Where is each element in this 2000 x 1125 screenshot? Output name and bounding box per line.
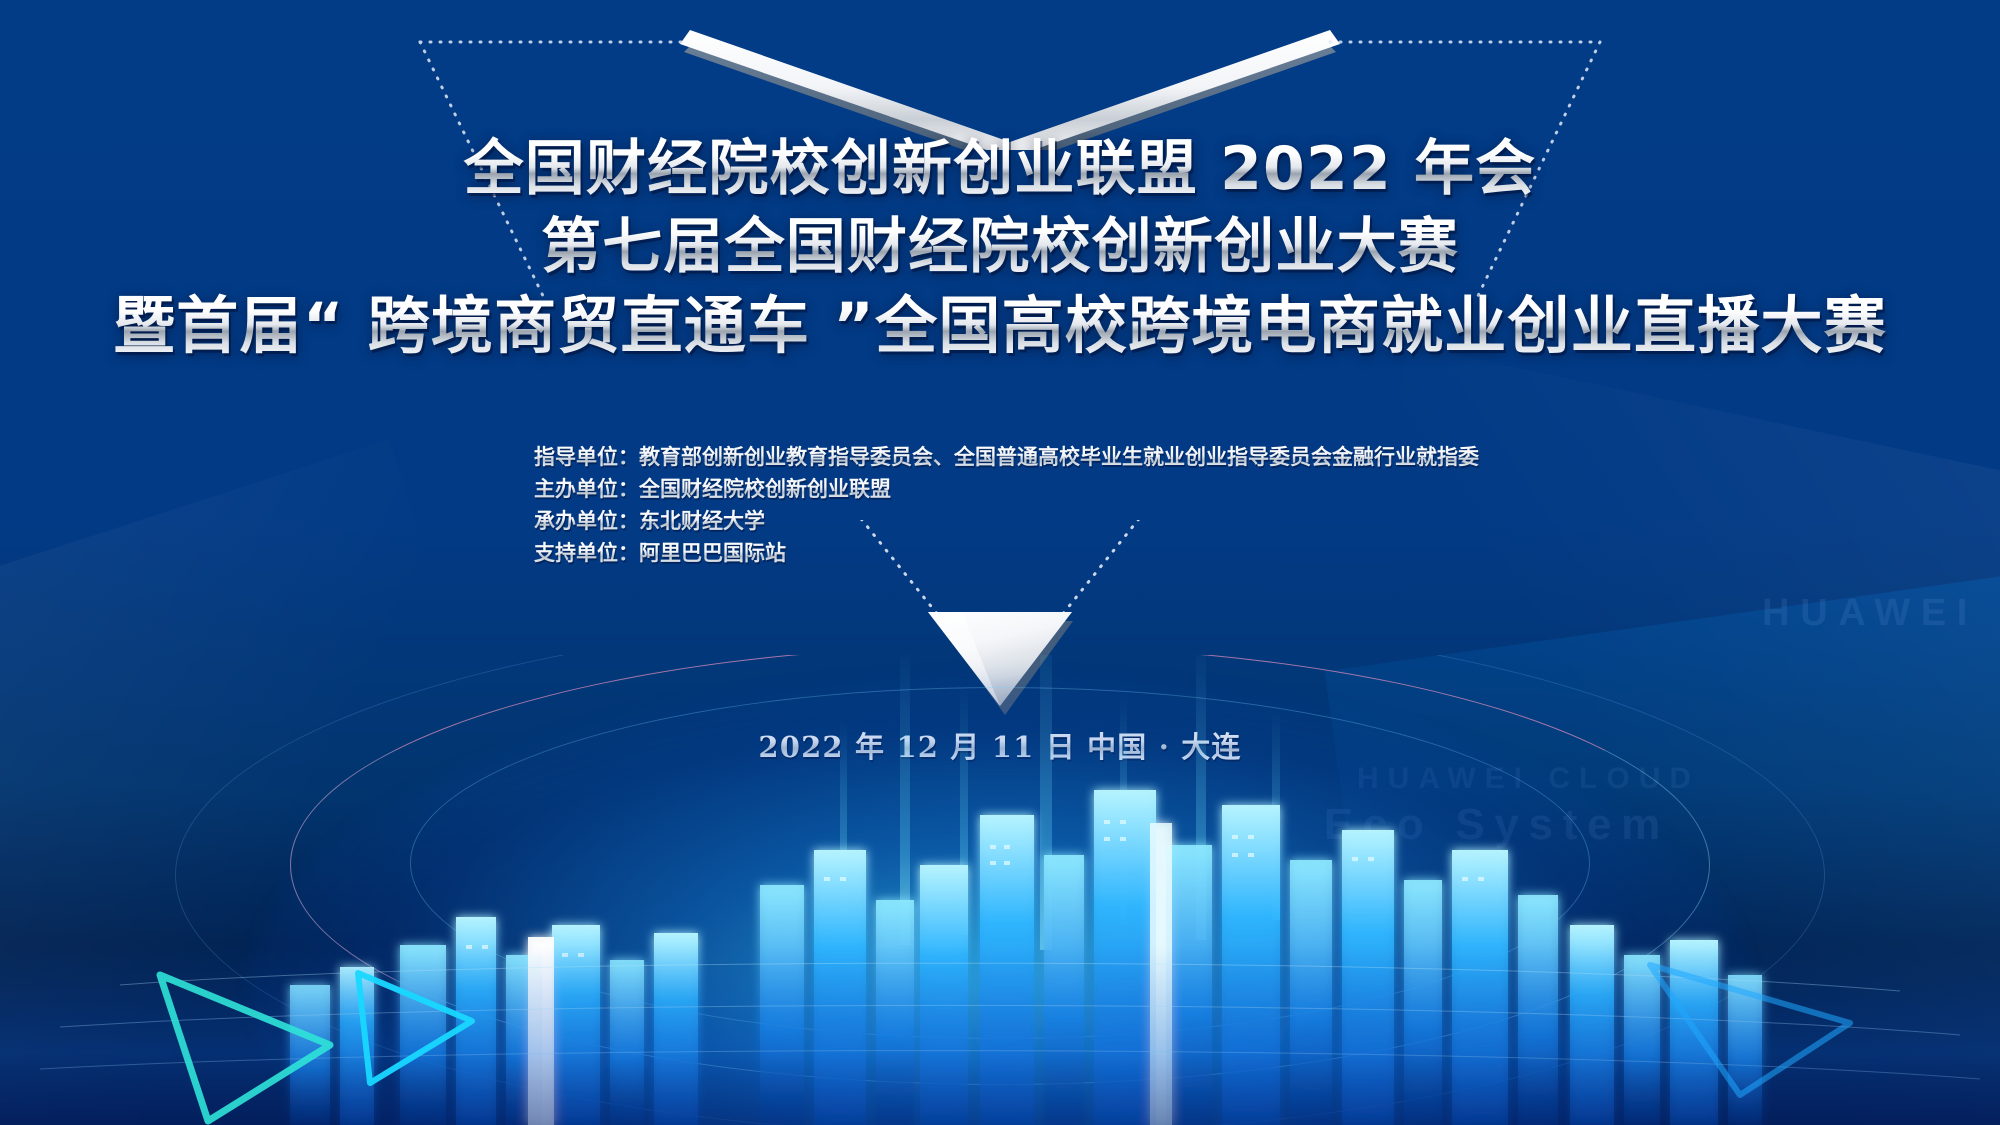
poster-title-block: 全国财经院校创新创业联盟 2022 年会 第七届全国财经院校创新创业大赛 暨首届… [0, 130, 2000, 367]
huawei-watermark: HUAWEI [1762, 592, 1978, 635]
digital-city-skyline [0, 655, 2000, 1125]
chevron-bar-icon [0, 0, 2000, 150]
title-line-2: 第七届全国财经院校创新创业大赛 [0, 208, 2000, 286]
conference-poster: HUAWEI HUAWEI CLOUD Eco System [0, 0, 2000, 1125]
city-floor-fade [0, 945, 2000, 1125]
top-decoration [0, 0, 2000, 140]
organizer-host: 主办单位：全国财经院校创新创业联盟 [534, 474, 1479, 506]
organizer-guidance: 指导单位：教育部创新创业教育指导委员会、全国普通高校毕业生就业创业指导委员会金融… [534, 442, 1479, 474]
title-line-3: 暨首届“ 跨境商贸直通车 ”全国高校跨境电商就业创业直播大赛 [0, 286, 2000, 367]
title-line-1: 全国财经院校创新创业联盟 2022 年会 [0, 130, 2000, 208]
